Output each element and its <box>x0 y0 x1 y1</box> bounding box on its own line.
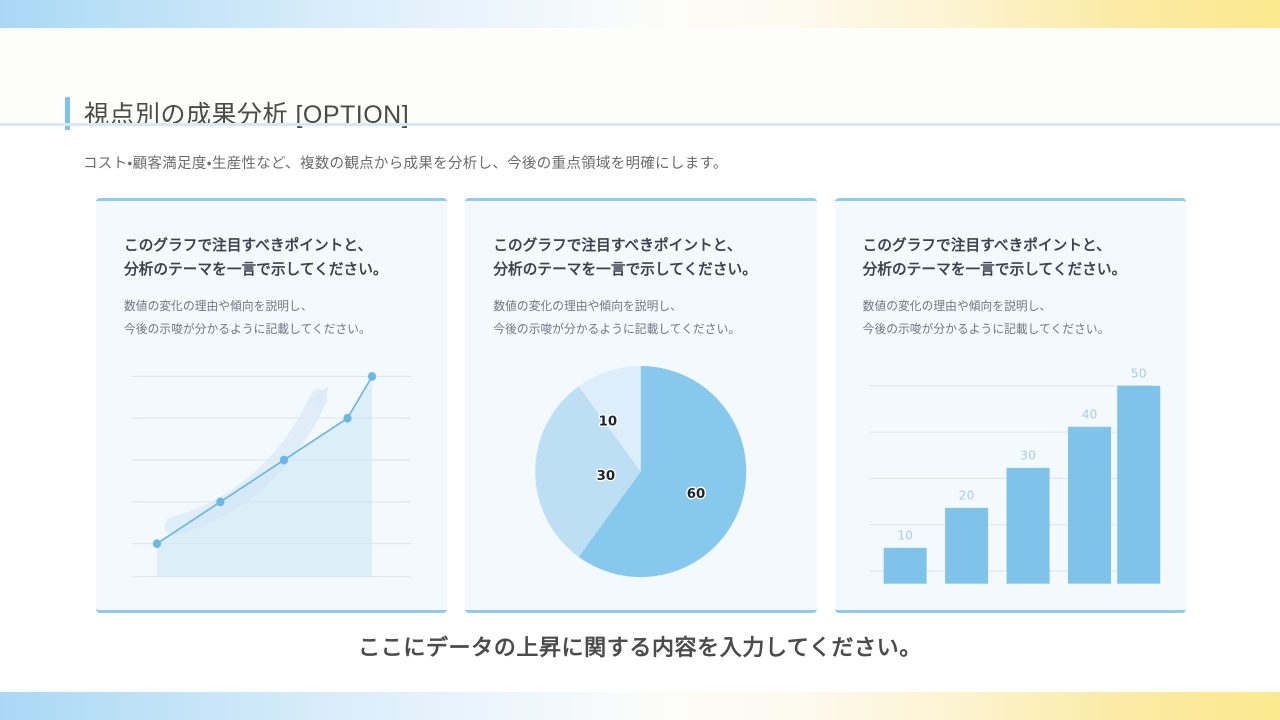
bar-5 <box>1117 386 1160 584</box>
lead-text: コスト・顧客満足度・生産性など、複数の観点から成果を分析し、今後の重点領域を明確… <box>83 152 728 173</box>
bar-chart-svg: 10 20 30 40 50 <box>857 350 1164 592</box>
slide-header: 視点別の成果分析 [OPTION] <box>0 28 1280 125</box>
card-subtext: 数値の変化の理由や傾向を説明し、 今後の示唆が分かるように記載してください。 <box>863 296 1158 342</box>
card-title: このグラフで注目すべきポイントと、 分析のテーマを一言で示してください。 <box>493 235 788 282</box>
card-sub-line1: 数値の変化の理由や傾向を説明し、 <box>493 296 788 319</box>
header-divider <box>0 123 1280 126</box>
bar-chart-area: 10 20 30 40 50 <box>857 350 1164 592</box>
card-title-line1: このグラフで注目すべきポイントと、 <box>863 235 1158 259</box>
card-head: このグラフで注目すべきポイントと、 分析のテーマを一言で示してください。 数値の… <box>465 201 816 342</box>
card-head: このグラフで注目すべきポイントと、 分析のテーマを一言で示してください。 数値の… <box>96 201 447 342</box>
bar-value-label-1: 10 <box>897 527 913 542</box>
card-head: このグラフで注目すべきポイントと、 分析のテーマを一言で示してください。 数値の… <box>835 201 1186 342</box>
line-chart-area-fill <box>157 376 372 576</box>
pie-chart-svg: 60 30 10 <box>487 350 794 592</box>
footer-caption: ここにデータの上昇に関する内容を入力してください。 <box>0 630 1280 662</box>
bar-2 <box>945 508 988 584</box>
line-chart-svg <box>118 350 425 592</box>
card-sub-line1: 数値の変化の理由や傾向を説明し、 <box>863 296 1158 319</box>
pie-chart-slices <box>536 366 747 577</box>
bar-3 <box>1006 468 1049 584</box>
card-line-chart[interactable]: このグラフで注目すべきポイントと、 分析のテーマを一言で示してください。 数値の… <box>96 198 447 613</box>
pie-chart-area: 60 30 10 <box>487 350 794 592</box>
bar-4 <box>1068 427 1111 584</box>
pie-label-30: 30 <box>597 469 616 484</box>
slide-root: 視点別の成果分析 [OPTION] コスト・顧客満足度・生産性など、複数の観点か… <box>0 0 1280 720</box>
card-subtext: 数値の変化の理由や傾向を説明し、 今後の示唆が分かるように記載してください。 <box>124 296 419 342</box>
card-title-line1: このグラフで注目すべきポイントと、 <box>493 235 788 259</box>
bar-chart-bars <box>883 386 1160 584</box>
line-chart-area <box>118 350 425 592</box>
card-subtext: 数値の変化の理由や傾向を説明し、 今後の示唆が分かるように記載してください。 <box>493 296 788 342</box>
card-sub-line2: 今後の示唆が分かるように記載してください。 <box>493 319 788 342</box>
bar-value-label-2: 20 <box>958 487 974 502</box>
card-sub-line2: 今後の示唆が分かるように記載してください。 <box>863 319 1158 342</box>
pie-label-10: 10 <box>599 414 618 429</box>
card-sub-line1: 数値の変化の理由や傾向を説明し、 <box>124 296 419 319</box>
card-title-line2: 分析のテーマを一言で示してください。 <box>124 259 419 283</box>
pie-label-60: 60 <box>687 487 706 502</box>
bar-value-label-3: 30 <box>1020 447 1036 462</box>
card-title-line2: 分析のテーマを一言で示してください。 <box>493 259 788 283</box>
card-container: このグラフで注目すべきポイントと、 分析のテーマを一言で示してください。 数値の… <box>96 198 1186 613</box>
bottom-gradient-band <box>0 692 1280 720</box>
card-sub-line2: 今後の示唆が分かるように記載してください。 <box>124 319 419 342</box>
card-bar-chart[interactable]: このグラフで注目すべきポイントと、 分析のテーマを一言で示してください。 数値の… <box>835 198 1186 613</box>
bar-value-label-5: 50 <box>1131 365 1147 380</box>
top-gradient-band <box>0 0 1280 28</box>
card-pie-chart[interactable]: このグラフで注目すべきポイントと、 分析のテーマを一言で示してください。 数値の… <box>465 198 816 613</box>
card-title: このグラフで注目すべきポイントと、 分析のテーマを一言で示してください。 <box>863 235 1158 282</box>
card-title-line1: このグラフで注目すべきポイントと、 <box>124 235 419 259</box>
card-title-line2: 分析のテーマを一言で示してください。 <box>863 259 1158 283</box>
card-title: このグラフで注目すべきポイントと、 分析のテーマを一言で示してください。 <box>124 235 419 282</box>
bar-1 <box>883 548 926 584</box>
bar-value-label-4: 40 <box>1081 406 1097 421</box>
